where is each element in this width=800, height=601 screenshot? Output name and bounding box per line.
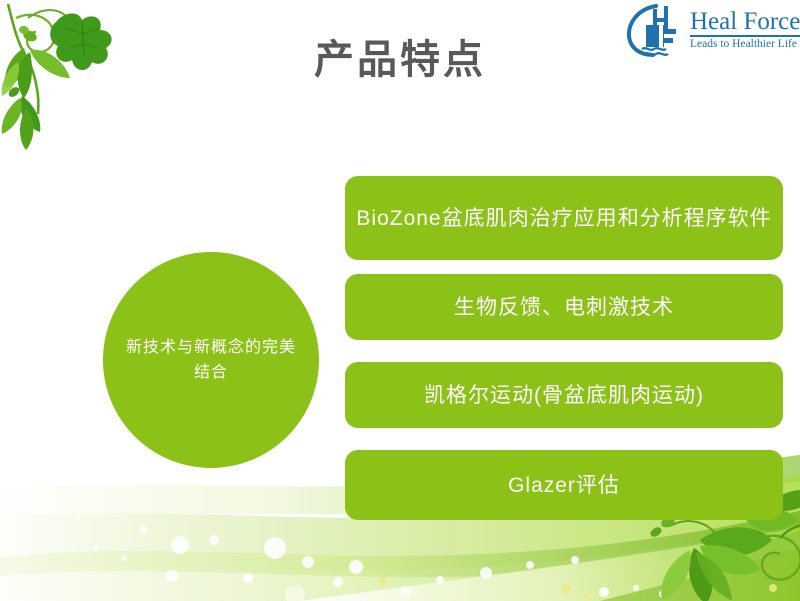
logo-brand-name: Heal Force ® [690, 9, 800, 37]
feature-box-label: 生物反馈、电刺激技术 [454, 292, 674, 323]
page-title: 产品特点 [0, 36, 800, 84]
logo-brand-text: Heal Force [690, 8, 800, 35]
feature-box[interactable]: BioZone盆底肌肉治疗应用和分析程序软件 [345, 176, 783, 260]
concept-circle-label: 新技术与新概念的完美结合 [126, 335, 296, 385]
feature-box[interactable]: 生物反馈、电刺激技术 [345, 274, 783, 340]
feature-box[interactable]: Glazer评估 [345, 450, 783, 520]
feature-box-label: BioZone盆底肌肉治疗应用和分析程序软件 [356, 203, 771, 234]
feature-box-label: Glazer评估 [508, 470, 620, 501]
feature-box[interactable]: 凯格尔运动(骨盆底肌肉运动) [345, 362, 783, 428]
slide-canvas: Heal Force ® Leads to Healthier Life 产品特… [0, 0, 800, 601]
feature-box-label: 凯格尔运动(骨盆底肌肉运动) [424, 380, 704, 411]
concept-circle: 新技术与新概念的完美结合 [103, 252, 319, 468]
